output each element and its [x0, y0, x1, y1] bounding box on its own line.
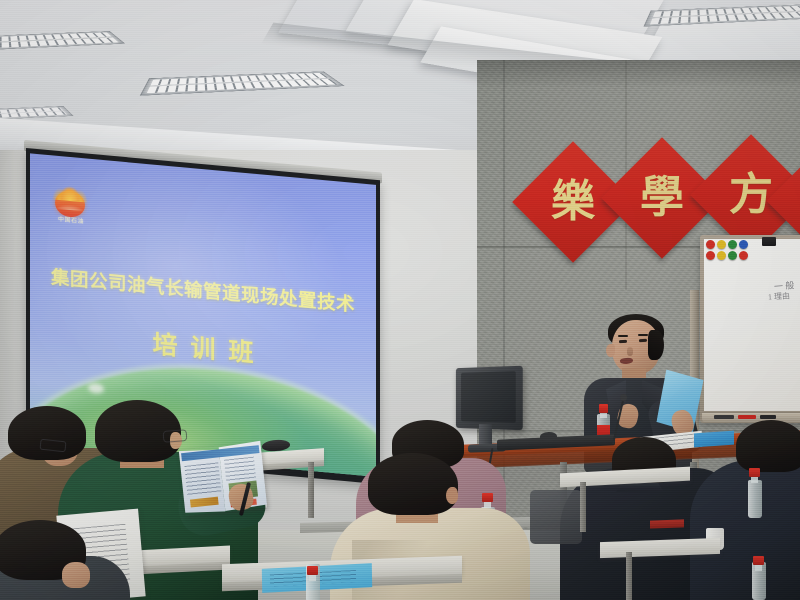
ceiling-light-fixture — [140, 71, 345, 95]
mouse[interactable] — [540, 432, 557, 442]
water-bottle — [748, 468, 761, 518]
presenter-desk-blue-folder — [694, 431, 734, 448]
ceiling-light-fixture — [0, 31, 125, 51]
whiteboard-marker-tray — [702, 413, 800, 422]
whiteboard-magnets[interactable] — [706, 240, 752, 262]
whiteboard-writing-line-2: 1 理由 — [768, 290, 791, 302]
desk-red-object — [650, 519, 684, 528]
audience-desk-leg — [580, 482, 586, 532]
attendee-dark-suit-2-head — [736, 420, 800, 472]
whiteboard-marker[interactable] — [738, 415, 756, 419]
presenter-eyebrow — [638, 334, 648, 336]
cnpc-flame-icon — [52, 177, 88, 202]
training-booklet — [179, 442, 267, 516]
water-bottle — [752, 556, 766, 600]
presenter-eye — [619, 340, 627, 343]
diamond-glyph: 樂 — [551, 180, 595, 224]
lcd-monitor — [456, 366, 523, 431]
whiteboard-surface[interactable]: 一 般 1 理由 — [704, 239, 800, 411]
cnpc-logo-caption: 中国石油 — [51, 213, 91, 226]
attendee-front-left-hand — [62, 562, 90, 588]
cnpc-logo: 中国石油 — [52, 177, 88, 224]
attendee-cream-jacket-head — [368, 453, 458, 515]
chair-back — [530, 490, 582, 544]
classroom-photo: 樂 學 方 中国石油 集团公司油气长输管道现场处置技术 培训班 — [0, 0, 800, 600]
slide-title: 集团公司油气长输管道现场处置技术 — [30, 261, 376, 318]
booklet-text-block — [184, 462, 221, 495]
whiteboard-marker[interactable] — [714, 415, 734, 419]
booklet-text-block — [224, 457, 256, 482]
presenter-nose — [627, 347, 633, 356]
presenter-eyebrow — [618, 335, 628, 337]
whiteboard-marker[interactable] — [760, 415, 776, 419]
presenter-hair-side — [648, 330, 664, 360]
wall-stone-shadow — [477, 60, 800, 88]
audience-desk-leg — [308, 462, 314, 518]
whiteboard: 一 般 1 理由 — [700, 235, 800, 423]
whiteboard-clip[interactable] — [762, 237, 776, 246]
diamond-glyph: 方 — [729, 173, 773, 217]
water-bottle — [306, 566, 320, 600]
presenter-eye — [639, 339, 647, 342]
glasses-icon — [163, 429, 188, 443]
attendee-cream-jacket-ear — [446, 487, 458, 504]
presenter-ear — [606, 344, 615, 357]
diamond-glyph: 學 — [640, 176, 684, 220]
front-desk-leg — [626, 552, 632, 600]
microphone-head — [620, 394, 627, 401]
attendee-brown-jacket-head — [8, 406, 86, 460]
